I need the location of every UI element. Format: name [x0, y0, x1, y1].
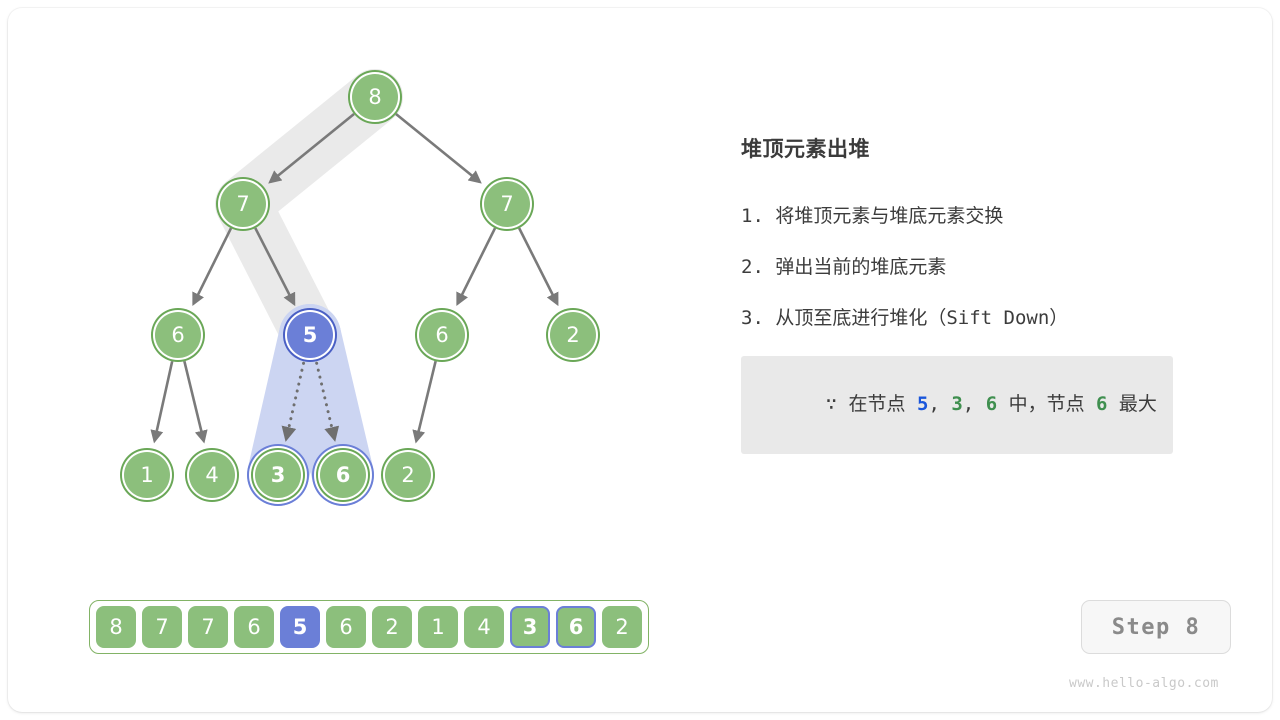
array-cell-9: 3 — [510, 606, 550, 648]
tree-edge — [396, 114, 480, 182]
tree-node-n4: 5 — [285, 310, 335, 360]
note-prefix: 在节点 — [849, 393, 917, 415]
steps-list: 1. 将堆顶元素与堆底元素交换2. 弹出当前的堆底元素3. 从顶至底进行堆化（S… — [741, 202, 1211, 332]
tree-edge — [155, 361, 173, 440]
tree-node-n7: 1 — [122, 450, 172, 500]
tree-edge — [458, 228, 495, 303]
array-cell-8: 4 — [464, 606, 504, 648]
watermark: www.hello-algo.com — [1069, 676, 1219, 691]
tree-node-n5: 6 — [417, 310, 467, 360]
because-symbol: ∵ — [826, 393, 837, 415]
info-panel: 堆顶元素出堆 1. 将堆顶元素与堆底元素交换2. 弹出当前的堆底元素3. 从顶至… — [741, 136, 1211, 454]
note-middle: 中，节点 — [997, 393, 1096, 415]
tree-edge — [416, 361, 435, 441]
step-line-2: 2. 弹出当前的堆底元素 — [741, 253, 1211, 281]
step-badge: Step 8 — [1081, 600, 1231, 654]
note-suffix: 最大 — [1107, 393, 1156, 415]
tree-edge — [519, 228, 557, 304]
tree-edge — [255, 228, 294, 304]
tree-node-n8: 4 — [187, 450, 237, 500]
tree-edge — [270, 114, 354, 182]
tree-node-n11: 2 — [383, 450, 433, 500]
page-title: 堆顶元素出堆 — [741, 136, 1211, 164]
array-cell-1: 7 — [142, 606, 182, 648]
note-sep-1: , — [928, 393, 951, 415]
array-cell-3: 6 — [234, 606, 274, 648]
step-line-1: 1. 将堆顶元素与堆底元素交换 — [741, 202, 1211, 230]
array-cell-4: 5 — [280, 606, 320, 648]
note-sep-2: , — [963, 393, 986, 415]
diagram-stage: 877656214362 877656214362 堆顶元素出堆 1. 将堆顶元… — [0, 0, 1280, 720]
tree-node-n9: 3 — [253, 450, 303, 500]
tree-node-n2: 7 — [482, 179, 532, 229]
tree-node-n6: 2 — [548, 310, 598, 360]
array-container: 877656214362 — [89, 600, 649, 654]
array-cell-5: 6 — [326, 606, 366, 648]
note-value-2: 3 — [951, 393, 962, 415]
tree-edge — [184, 361, 203, 441]
array-cell-0: 8 — [96, 606, 136, 648]
array-cell-7: 1 — [418, 606, 458, 648]
tree-edge-dotted — [286, 363, 303, 439]
tree-edge — [194, 228, 231, 303]
tree-node-n1: 7 — [218, 179, 268, 229]
tree-node-n3: 6 — [153, 310, 203, 360]
note-space — [837, 393, 848, 415]
step-line-3: 3. 从顶至底进行堆化（Sift Down） — [741, 304, 1211, 332]
note-box: ∵ 在节点 5, 3, 6 中，节点 6 最大 — [741, 356, 1173, 454]
tree-node-n10: 6 — [318, 450, 368, 500]
note-value-1: 5 — [917, 393, 928, 415]
tree-node-n0: 8 — [350, 72, 400, 122]
array-cell-11: 2 — [602, 606, 642, 648]
tree-edge-dotted — [317, 363, 335, 439]
array-cell-6: 2 — [372, 606, 412, 648]
array-cell-10: 6 — [556, 606, 596, 648]
array-cell-2: 7 — [188, 606, 228, 648]
note-value-4: 6 — [1096, 393, 1107, 415]
note-value-3: 6 — [986, 393, 997, 415]
